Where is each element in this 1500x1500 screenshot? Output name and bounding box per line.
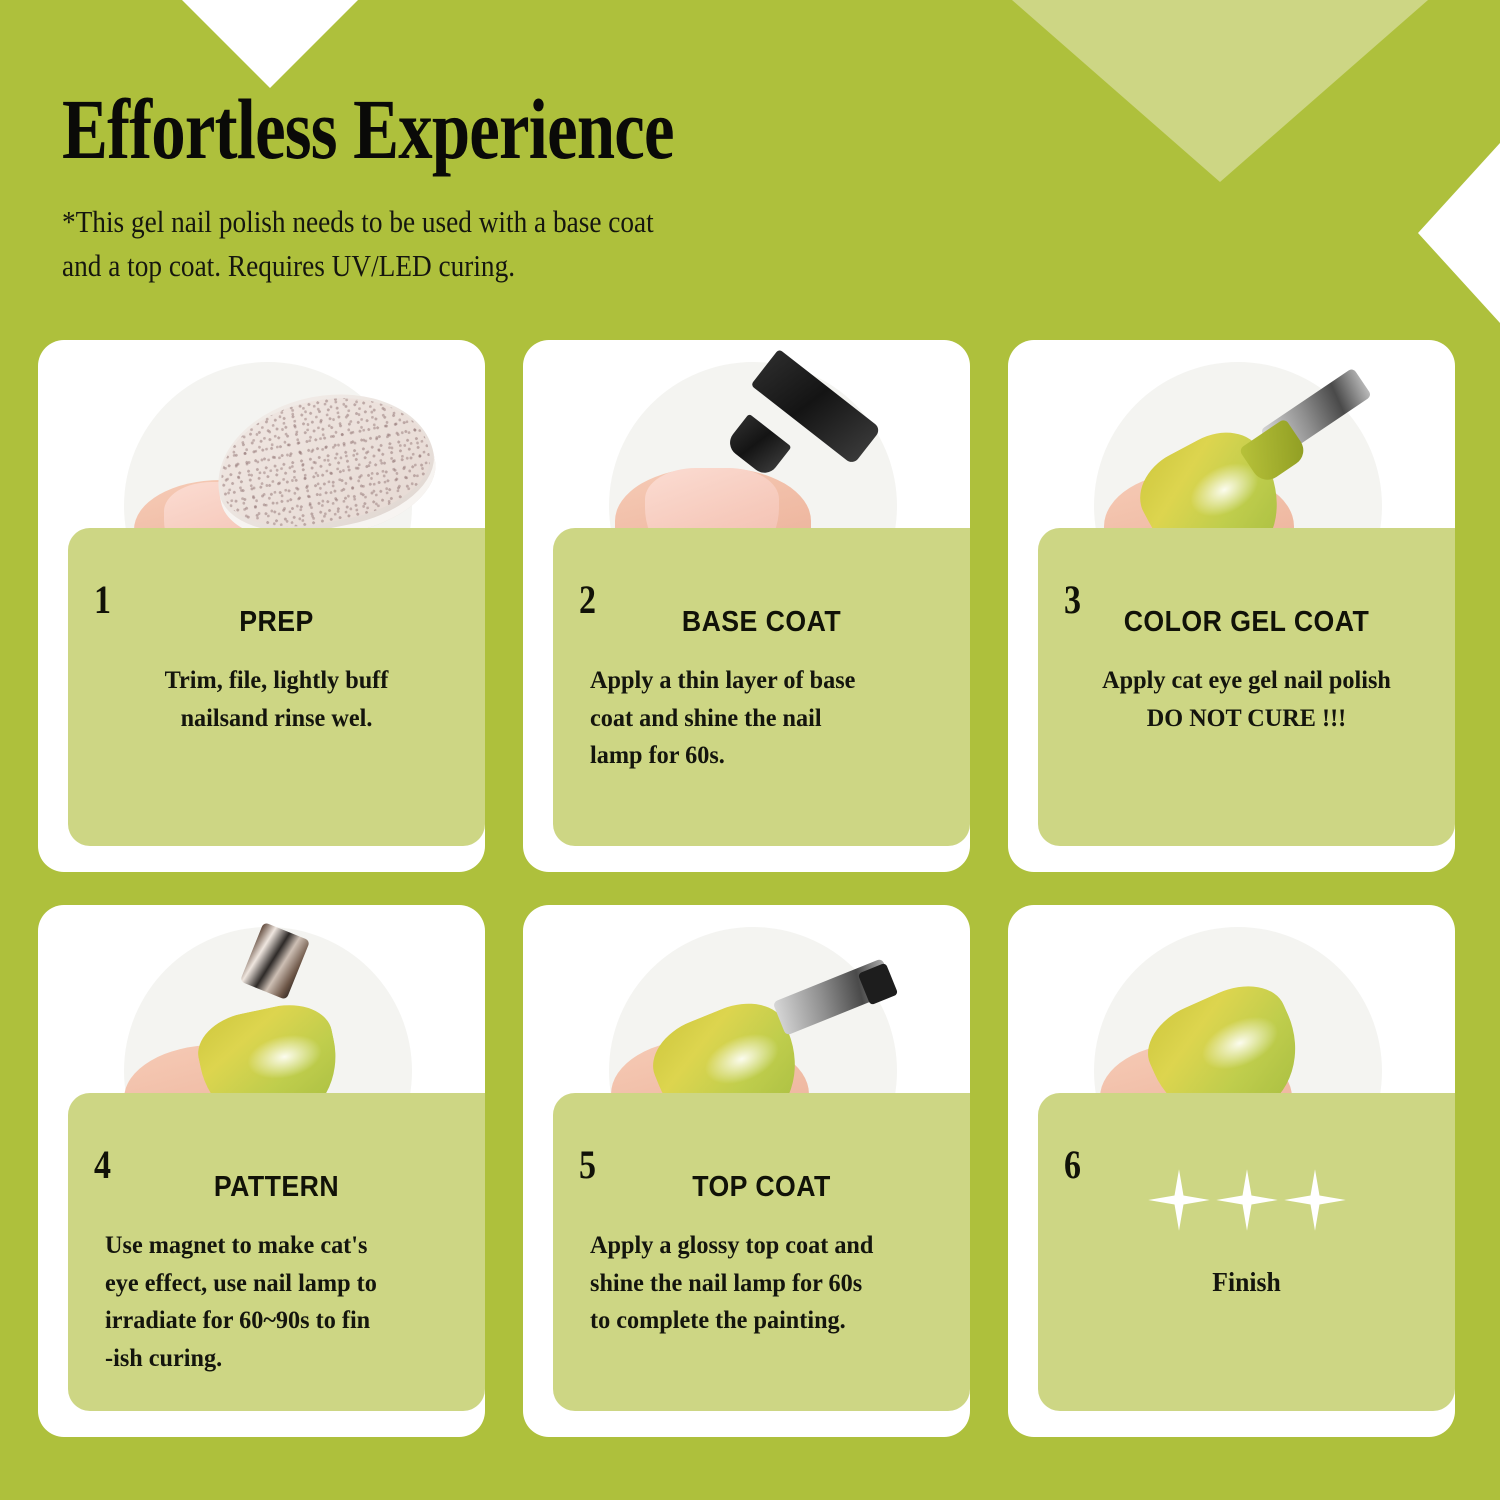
magnet-stick-top bbox=[240, 922, 310, 1000]
step-number: 6 bbox=[1064, 1145, 1081, 1185]
step-text-panel: 6 Finish bbox=[1038, 1093, 1455, 1411]
step-heading: PREP bbox=[85, 606, 469, 639]
step-heading: BASE COAT bbox=[570, 606, 954, 639]
light-green-chevron bbox=[1012, 0, 1428, 182]
step-body: Apply a glossy top coat and shine the na… bbox=[563, 1226, 959, 1339]
step-text-panel: 3 COLOR GEL COAT Apply cat eye gel nail … bbox=[1038, 528, 1455, 846]
sparkle-icon bbox=[1283, 1168, 1347, 1232]
step-body: Apply a thin layer of base coat and shin… bbox=[563, 661, 959, 774]
step-card-3: 3 COLOR GEL COAT Apply cat eye gel nail … bbox=[1008, 340, 1455, 872]
step-body: Apply cat eye gel nail polish DO NOT CUR… bbox=[1048, 661, 1444, 736]
step-card-1: 1 PREP Trim, file, lightly buff nailsand… bbox=[38, 340, 485, 872]
top-white-triangle-notch bbox=[182, 0, 358, 88]
step-card-2: 2 BASE COAT Apply a thin layer of base c… bbox=[523, 340, 970, 872]
step-text-panel: 5 TOP COAT Apply a glossy top coat and s… bbox=[553, 1093, 970, 1411]
step-card-5: 5 TOP COAT Apply a glossy top coat and s… bbox=[523, 905, 970, 1437]
sparkle-icon bbox=[1215, 1168, 1279, 1232]
page-subtitle: *This gel nail polish needs to be used w… bbox=[62, 200, 654, 288]
step-text-panel: 1 PREP Trim, file, lightly buff nailsand… bbox=[68, 528, 485, 846]
sparkle-group bbox=[1038, 1167, 1455, 1233]
step-body: Finish bbox=[1048, 1267, 1444, 1298]
infographic-page: Effortless Experience *This gel nail pol… bbox=[0, 0, 1500, 1500]
step-heading: TOP COAT bbox=[570, 1171, 954, 1204]
step-heading: COLOR GEL COAT bbox=[1055, 606, 1439, 639]
step-heading: PATTERN bbox=[85, 1171, 469, 1204]
steps-grid: 1 PREP Trim, file, lightly buff nailsand… bbox=[38, 340, 1462, 1470]
page-title: Effortless Experience bbox=[62, 86, 674, 172]
step-text-panel: 4 PATTERN Use magnet to make cat's eye e… bbox=[68, 1093, 485, 1411]
step-card-6: 6 Finish bbox=[1008, 905, 1455, 1437]
step-body: Use magnet to make cat's eye effect, use… bbox=[78, 1226, 474, 1377]
right-white-triangle-notch bbox=[1418, 143, 1500, 323]
step-body: Trim, file, lightly buff nailsand rinse … bbox=[78, 661, 474, 736]
step-card-4: 4 PATTERN Use magnet to make cat's eye e… bbox=[38, 905, 485, 1437]
step-text-panel: 2 BASE COAT Apply a thin layer of base c… bbox=[553, 528, 970, 846]
sparkle-icon bbox=[1147, 1168, 1211, 1232]
